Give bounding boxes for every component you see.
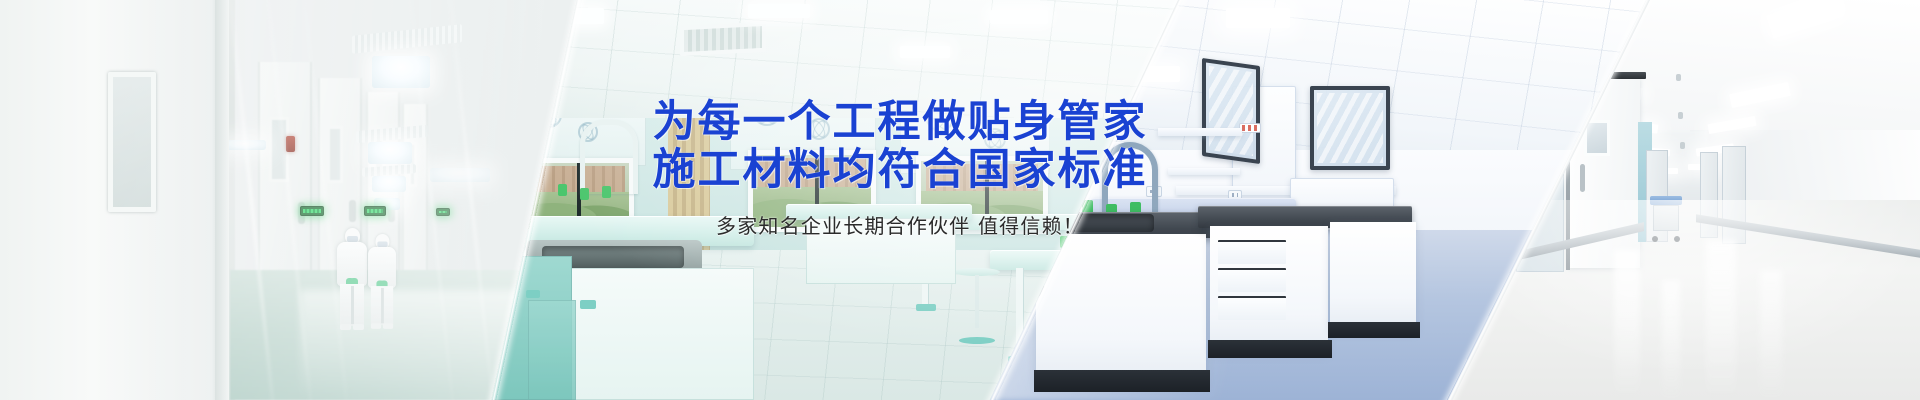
exit-sign [364,206,386,216]
bench-drawer [1218,268,1286,292]
ceiling-luminaire [1226,8,1290,28]
door-vision-window [108,72,156,212]
ceiling-lamp [430,168,490,182]
bench-plinth [1034,370,1210,392]
ceiling-lamp [368,142,412,164]
hero-banner: 为每一个工程做贴身管家 施工材料均符合国家标准 多家知名企业长期合作伙伴 值得信… [0,0,1920,400]
banner-subtitle: 多家知名企业长期合作伙伴 值得信赖！ [620,210,1180,239]
headline-line-2: 施工材料均符合国家标准 [620,146,1180,194]
bench-plinth [1208,340,1332,358]
bench-drawer [1218,296,1286,320]
ceiling-lamp [372,56,430,88]
banner-copy: 为每一个工程做贴身管家 施工材料均符合国家标准 多家知名企业长期合作伙伴 值得信… [620,98,1180,239]
headline-line-1: 为每一个工程做贴身管家 [620,98,1180,146]
ceiling-lamp [372,176,406,192]
left-door-panel [0,0,220,400]
exit-sign [300,206,324,216]
door-handle[interactable] [1580,164,1585,192]
cabinet-label [1240,124,1260,132]
bench-cabinet [1330,222,1416,330]
bench-plinth [1328,322,1420,338]
wall-cabinet-glass-door [1310,86,1390,170]
fume-hood-glass-sash [1202,58,1260,164]
exit-sign [436,208,450,216]
door-jamb [215,0,229,400]
alarm-box [286,136,295,152]
bench-drawer [1218,240,1286,264]
